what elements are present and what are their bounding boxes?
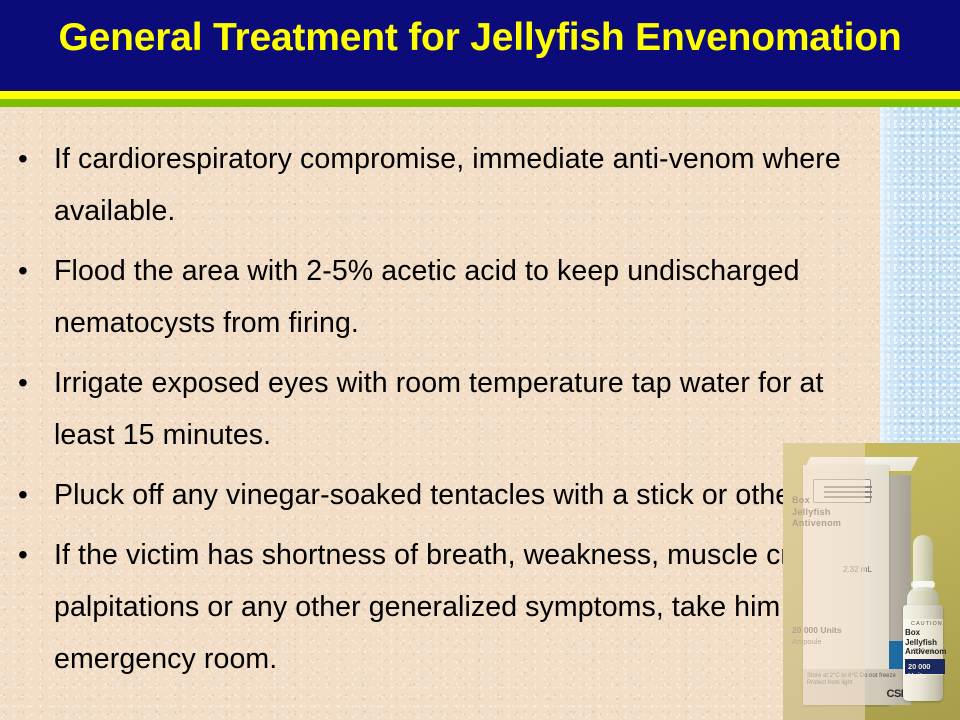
list-item: • Flood the area with 2-5% acetic acid t… xyxy=(10,245,890,349)
carton-volume: 2.32 mL xyxy=(843,565,872,574)
list-item: • Pluck off any vinegar-soaked tentacles… xyxy=(10,469,890,521)
slide: General Treatment for Jellyfish Envenoma… xyxy=(0,0,960,720)
carton-units-text: 20 000 Units xyxy=(792,625,842,636)
list-item-text: Pluck off any vinegar-soaked tentacles w… xyxy=(54,479,863,511)
bullet-point-icon: • xyxy=(18,133,28,185)
antivenom-product-photo: Box Jellyfish Antivenom 2.32 mL 20 000 U… xyxy=(783,443,960,720)
carton-form-text: Ampoule xyxy=(792,636,842,647)
carton-product-name-line3: Antivenom xyxy=(792,518,902,530)
carton-product-name: Box Jellyfish Antivenom xyxy=(792,495,902,530)
list-item: • If cardiorespiratory compromise, immed… xyxy=(10,133,890,237)
bullet-point-icon: • xyxy=(18,529,28,581)
list-item: • If the victim has shortness of breath,… xyxy=(10,529,890,685)
bullet-point-icon: • xyxy=(18,245,28,297)
carton-product-name-line1: Box xyxy=(792,495,902,507)
list-item-text: Irrigate exposed eyes with room temperat… xyxy=(54,367,824,451)
carton-storage-text: Store at 2°C to 8°C Do not freeze Protec… xyxy=(807,673,911,687)
ampoule-volume: 2.32 mL xyxy=(913,649,935,655)
list-item: • Irrigate exposed eyes with room temper… xyxy=(10,357,890,461)
list-item-text: If the victim has shortness of breath, w… xyxy=(54,539,868,675)
divider-rule-yellow xyxy=(0,91,960,99)
divider-rule-green xyxy=(0,99,960,107)
bullet-point-icon: • xyxy=(18,469,28,521)
water-texture-band xyxy=(880,107,960,443)
ampoule-label: CAUTION Box Jellyfish Antivenom 2.32 mL … xyxy=(903,619,943,675)
bullet-list: • If cardiorespiratory compromise, immed… xyxy=(10,133,890,693)
ampoule-units-text: 20 000 Units xyxy=(908,662,945,680)
antivenom-ampoule: CAUTION Box Jellyfish Antivenom 2.32 mL … xyxy=(901,535,945,703)
list-item-text: If cardiorespiratory compromise, immedia… xyxy=(54,143,841,227)
photo-backdrop: Box Jellyfish Antivenom 2.32 mL 20 000 U… xyxy=(783,443,960,720)
ampoule-units-band: 20 000 Units xyxy=(905,659,945,674)
slide-title: General Treatment for Jellyfish Envenoma… xyxy=(0,14,960,62)
ampoule-caution-text: CAUTION xyxy=(911,621,943,627)
carton-units-block: 20 000 Units Ampoule xyxy=(792,625,842,647)
carton-footer-panel: Store at 2°C to 8°C Do not freeze Protec… xyxy=(803,669,911,705)
list-item-text: Flood the area with 2-5% acetic acid to … xyxy=(54,255,800,339)
carton-product-name-line2: Jellyfish xyxy=(792,507,902,519)
bullet-point-icon: • xyxy=(18,357,28,409)
ampoule-product-name-line1: Box Jellyfish xyxy=(905,628,949,647)
